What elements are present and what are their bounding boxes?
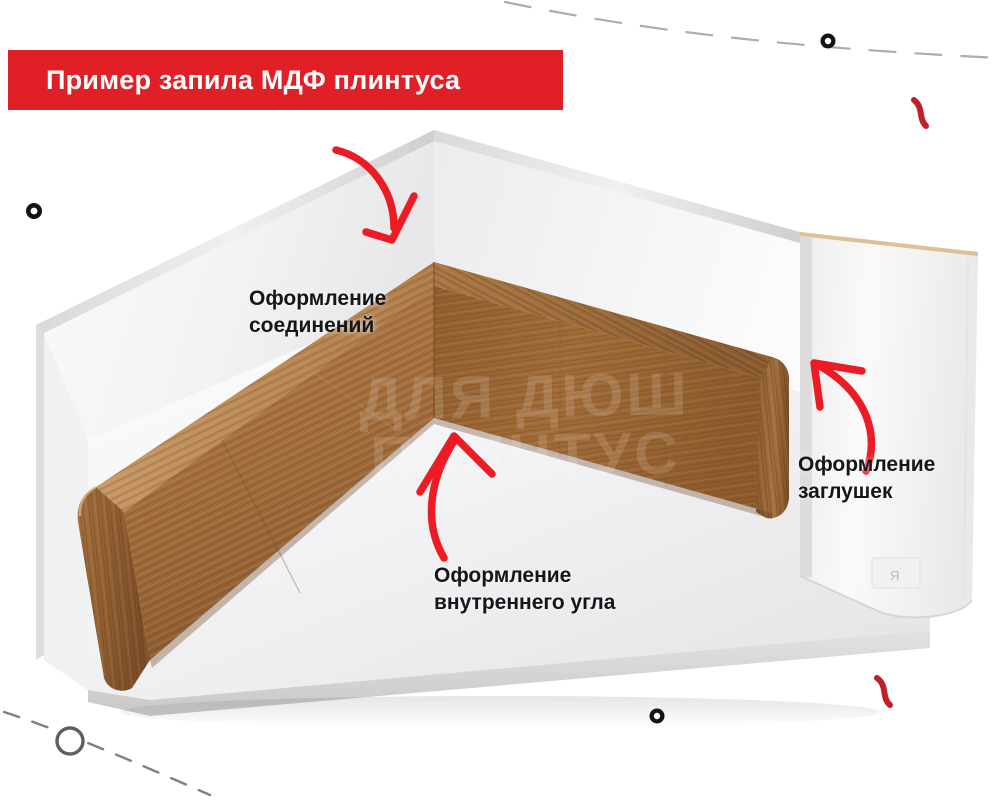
banner-title-text: Пример запила МДФ плинтуса	[8, 65, 460, 96]
annotation-label-joints: Оформление соединений	[249, 286, 386, 340]
title-banner: Пример запила МДФ плинтуса	[8, 50, 563, 110]
annotation-label-inner-corner: Оформление внутреннего угла	[434, 563, 615, 617]
curved-arrow-down-right-icon	[318, 128, 438, 248]
annotation-label-end-caps: Оформление заглушек	[798, 452, 935, 506]
svg-text:Я: Я	[890, 568, 899, 583]
curved-arrow-up-icon	[398, 420, 528, 560]
screenshot-root: Я ДЛЯ ДЮШ ПЛИНТУС Пример запила МДФ плин…	[0, 0, 1000, 800]
